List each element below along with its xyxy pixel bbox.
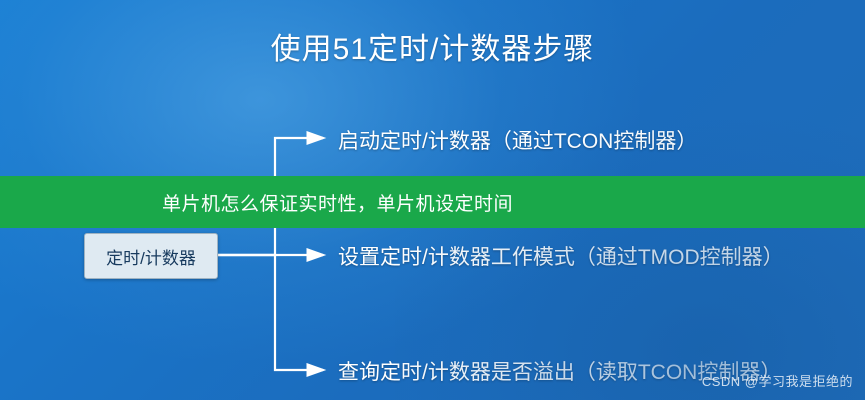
step-set-mode: 设置定时/计数器工作模式（通过TMOD控制器）	[338, 241, 784, 271]
watermark-text: CSDN @学习我是拒绝的	[702, 374, 853, 389]
diagram-title: 使用51定时/计数器步骤	[0, 24, 865, 68]
node-timer-counter: 定时/计数器	[84, 233, 218, 279]
article-title-text: 单片机怎么保证实时性，单片机设定时间	[162, 189, 513, 216]
diagram-canvas: 使用51定时/计数器步骤 定时/计数器 启动定时/计数器（通过TCON控制器） …	[0, 0, 865, 400]
node-timer-counter-label: 定时/计数器	[106, 244, 196, 269]
article-title-banner: 单片机怎么保证实时性，单片机设定时间	[0, 176, 865, 228]
step-start-timer: 启动定时/计数器（通过TCON控制器）	[338, 125, 697, 155]
watermark: CSDN @学习我是拒绝的	[702, 371, 853, 390]
